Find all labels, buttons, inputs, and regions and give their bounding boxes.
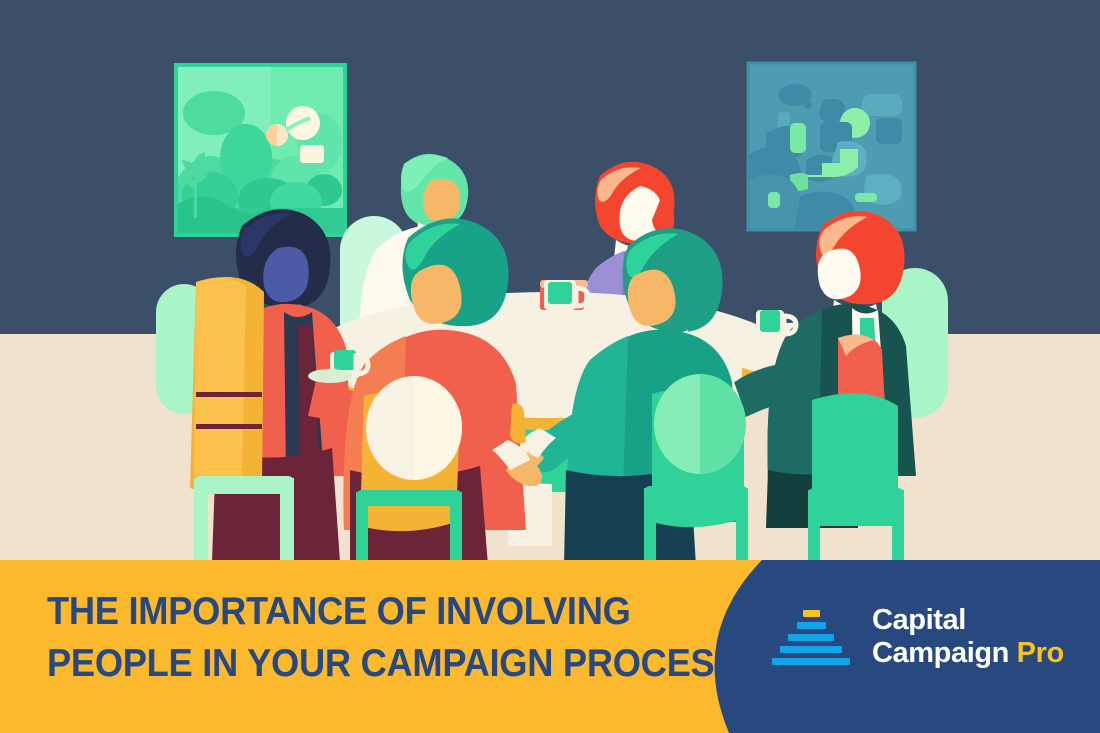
coffee-cup-center <box>540 280 588 310</box>
brand-pro-text: Pro <box>1017 637 1064 669</box>
pyramid-icon <box>772 610 850 665</box>
artwork-left <box>176 65 345 235</box>
title-line-1: THE IMPORTANCE OF INVOLVING <box>47 586 661 638</box>
pyramid-bar-1 <box>803 610 820 617</box>
brand-wordmark: Capital Campaign Pro <box>872 604 1064 670</box>
title-banner: THE IMPORTANCE OF INVOLVING PEOPLE IN YO… <box>0 560 1100 733</box>
brand-line-2: Campaign Pro <box>872 637 1064 670</box>
pyramid-bar-4 <box>780 646 842 653</box>
promo-graphic: THE IMPORTANCE OF INVOLVING PEOPLE IN YO… <box>0 0 1100 733</box>
pyramid-bar-5 <box>772 658 850 665</box>
title-line-2: PEOPLE IN YOUR CAMPAIGN PROCESS <box>47 638 661 690</box>
meeting-illustration <box>0 0 1100 565</box>
brand-logo[interactable]: Capital Campaign Pro <box>772 604 1064 670</box>
pyramid-bar-3 <box>788 634 834 641</box>
coffee-cup-table <box>308 369 352 383</box>
artwork-right <box>748 63 915 230</box>
brand-campaign-text: Campaign <box>872 637 1009 669</box>
pyramid-bar-2 <box>797 622 826 629</box>
page-title: THE IMPORTANCE OF INVOLVING PEOPLE IN YO… <box>47 586 661 690</box>
brand-line-1: Capital <box>872 604 1064 637</box>
